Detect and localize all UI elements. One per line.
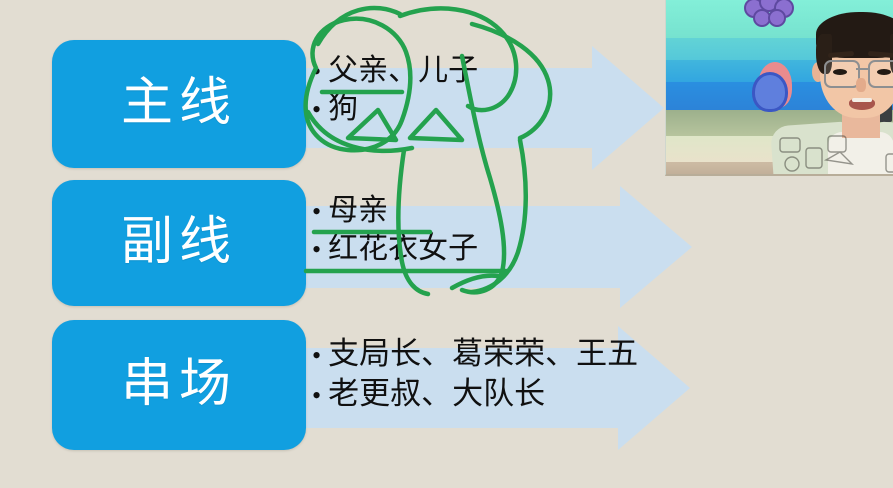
glasses-bridge — [856, 68, 868, 70]
slide-canvas: 主线 副线 串场 • 父亲、儿子 • 狗 • 母亲 • 红花衣女子 • 支 — [0, 0, 893, 488]
bullet-list-row-1: • 父亲、儿子 • 狗 — [312, 52, 478, 129]
eye-right — [877, 69, 891, 75]
list-item: • 父亲、儿子 — [312, 52, 478, 90]
bullet-text: 红花衣女子 — [328, 230, 478, 268]
teeth — [852, 98, 872, 102]
label-box-linking-scene[interactable]: 串场 — [52, 320, 306, 450]
bullet-list-row-2: • 母亲 • 红花衣女子 — [312, 192, 478, 269]
list-item: • 红花衣女子 — [312, 230, 478, 268]
eye-left — [833, 69, 847, 75]
label-text-main-line: 主线 — [121, 78, 237, 130]
presenter-figure — [736, 8, 866, 174]
bullet-list-row-3: • 支局长、葛荣荣、王五 • 老更叔、大队长 — [312, 334, 638, 413]
list-item: • 支局长、葛荣荣、王五 — [312, 334, 638, 374]
bullet-marker: • — [312, 383, 321, 409]
bullet-marker: • — [312, 199, 321, 225]
bullet-text: 老更叔、大队长 — [328, 374, 545, 414]
label-box-sub-line[interactable]: 副线 — [52, 180, 306, 306]
list-item: • 老更叔、大队长 — [312, 374, 638, 414]
label-box-main-line[interactable]: 主线 — [52, 40, 306, 168]
bullet-marker: • — [312, 97, 321, 123]
bullet-marker: • — [312, 59, 321, 85]
bullet-text: 父亲、儿子 — [328, 52, 478, 90]
label-text-sub-line: 副线 — [121, 217, 237, 269]
bullet-text: 支局长、葛荣荣、王五 — [328, 334, 638, 374]
list-item: • 母亲 — [312, 192, 478, 230]
bullet-text: 母亲 — [328, 192, 388, 230]
ink-arc-upper-left — [318, 8, 400, 44]
list-item: • 狗 — [312, 90, 478, 128]
bullet-marker: • — [312, 343, 321, 369]
jacket-pattern — [770, 126, 893, 176]
webcam-overlay[interactable] — [665, 0, 893, 176]
label-text-linking-scene: 串场 — [121, 359, 237, 411]
nose — [856, 78, 866, 92]
bullet-text: 狗 — [328, 90, 358, 128]
bullet-marker: • — [312, 237, 321, 263]
